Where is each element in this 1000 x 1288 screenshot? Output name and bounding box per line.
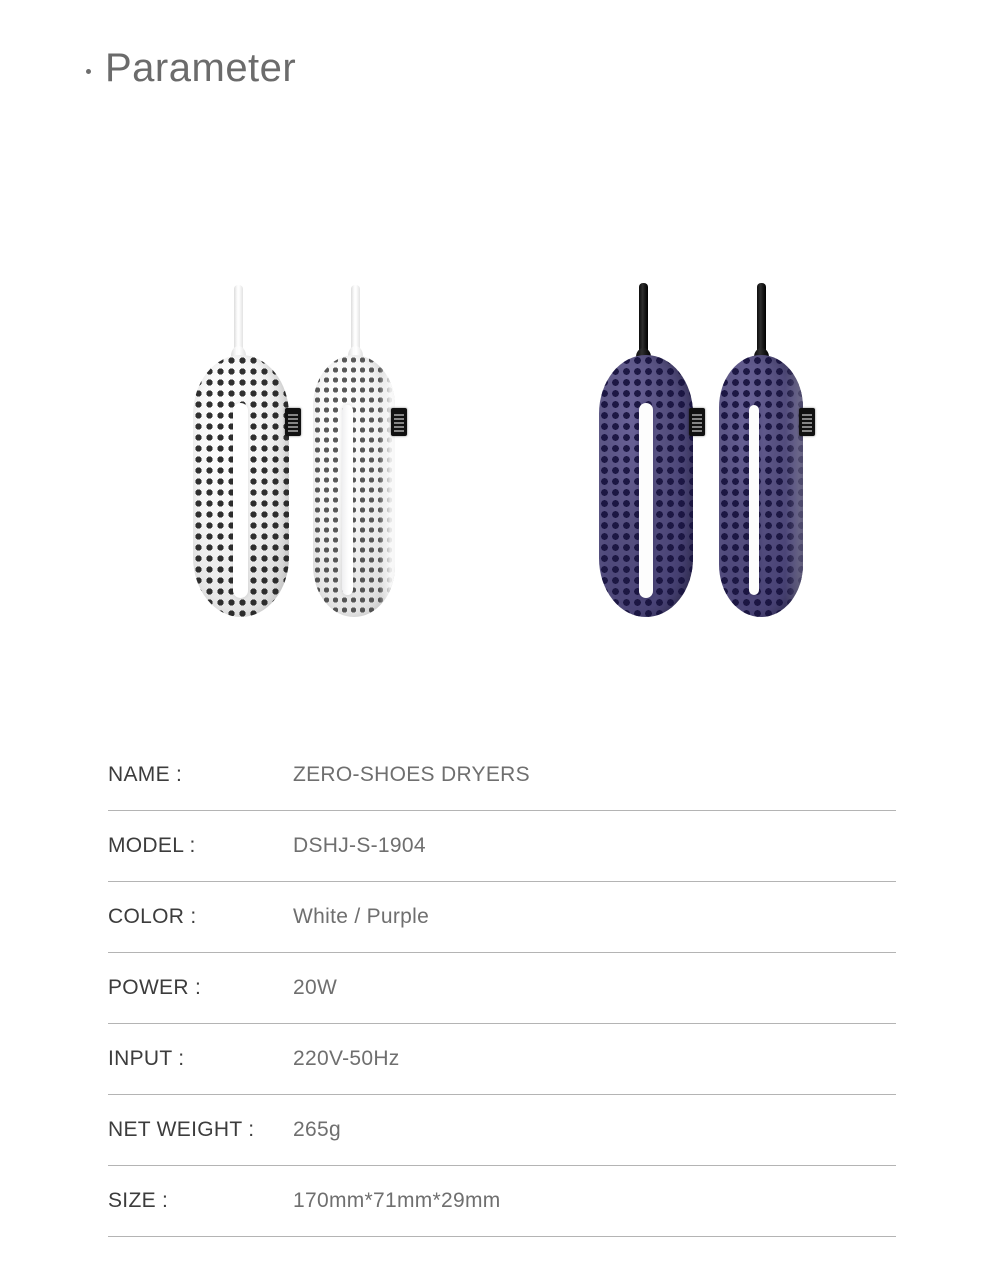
center-slot — [233, 403, 248, 598]
brand-badge-icon — [799, 408, 815, 436]
spec-label: MODEL : — [108, 834, 196, 858]
spec-row-input: INPUT : 220V-50Hz — [108, 1024, 896, 1095]
specification-table: NAME : ZERO-SHOES DRYERS MODEL : DSHJ-S-… — [108, 740, 896, 1237]
spec-label: POWER : — [108, 976, 201, 1000]
spec-row-size: SIZE : 170mm*71mm*29mm — [108, 1166, 896, 1237]
spec-value: 20W — [293, 976, 337, 1000]
device-body — [193, 355, 289, 617]
spec-row-name: NAME : ZERO-SHOES DRYERS — [108, 740, 896, 811]
spec-value: 265g — [293, 1118, 341, 1142]
device-body — [313, 355, 395, 617]
spec-value: White / Purple — [293, 905, 429, 929]
spec-value: 220V-50Hz — [293, 1047, 400, 1071]
spec-value: ZERO-SHOES DRYERS — [293, 763, 530, 787]
perforation-pattern — [313, 355, 395, 617]
center-slot — [342, 405, 353, 595]
spec-label: COLOR : — [108, 905, 196, 929]
brand-badge-icon — [285, 408, 301, 436]
page-title-text: Parameter — [105, 48, 296, 88]
page-title: Parameter — [86, 48, 296, 88]
spec-label: SIZE : — [108, 1189, 168, 1213]
perforation-pattern — [719, 355, 803, 617]
spec-row-model: MODEL : DSHJ-S-1904 — [108, 811, 896, 882]
bullet-dot-icon — [86, 69, 91, 74]
spec-label: INPUT : — [108, 1047, 184, 1071]
product-gallery — [0, 250, 1000, 650]
spec-label: NET WEIGHT : — [108, 1118, 254, 1142]
spec-row-net-weight: NET WEIGHT : 265g — [108, 1095, 896, 1166]
brand-badge-icon — [391, 408, 407, 436]
device-body — [719, 355, 803, 617]
device-body — [599, 355, 693, 617]
brand-badge-icon — [689, 408, 705, 436]
spec-row-color: COLOR : White / Purple — [108, 882, 896, 953]
spec-label: NAME : — [108, 763, 182, 787]
spec-value: 170mm*71mm*29mm — [293, 1189, 501, 1213]
spec-row-power: POWER : 20W — [108, 953, 896, 1024]
center-slot — [749, 405, 759, 595]
spec-value: DSHJ-S-1904 — [293, 834, 426, 858]
center-slot — [639, 403, 653, 598]
